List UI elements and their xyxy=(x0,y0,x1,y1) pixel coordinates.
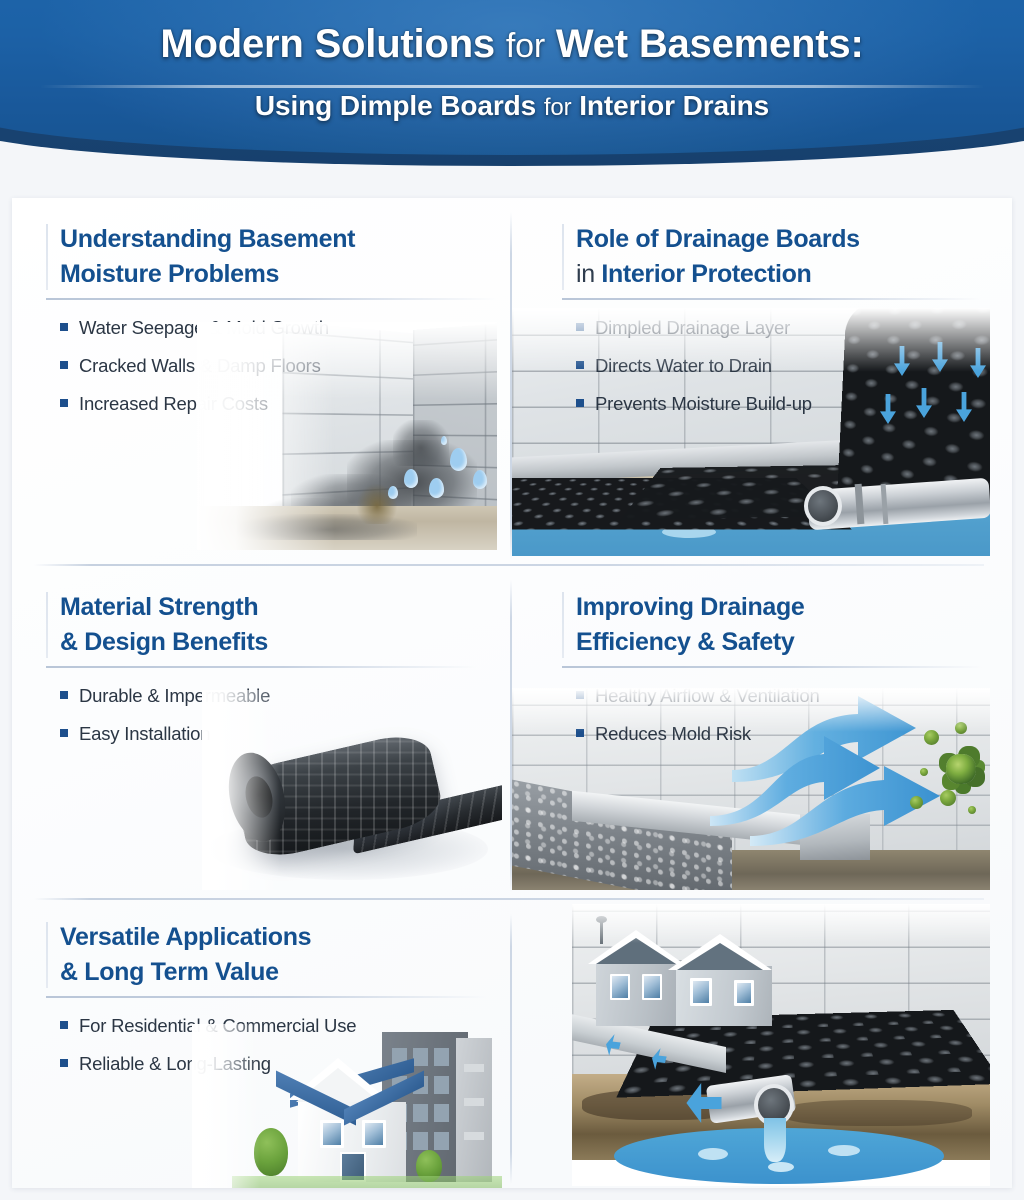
section-bullet-list: Water Seepage & Mold Growth Cracked Wall… xyxy=(46,317,496,416)
list-item: Dimpled Drainage Layer xyxy=(576,317,982,339)
section-understanding-basement-moisture-problems: Understanding Basement Moisture Problems… xyxy=(46,222,496,432)
list-item: Reliable & Long-Lasting xyxy=(60,1053,486,1075)
section-bullet-list: Dimpled Drainage Layer Directs Water to … xyxy=(562,317,982,416)
list-item: Directs Water to Drain xyxy=(576,355,982,377)
mold-spore-icon xyxy=(968,806,976,814)
list-item: Durable & Impermeable xyxy=(60,685,476,707)
page-title-part-1: Modern Solutions xyxy=(160,22,495,66)
page-title: Modern Solutions for Wet Basements: xyxy=(0,22,1024,66)
mold-spore-cluster-icon xyxy=(946,754,976,784)
section-versatile-applications-long-term-value: Versatile Applications & Long Term Value… xyxy=(46,920,486,1091)
section-title-line-2: Interior Protection xyxy=(601,260,811,288)
section-title-block: Role of Drainage Boards in Interior Prot… xyxy=(562,222,982,300)
section-bullet-list: For Residential & Commercial Use Reliabl… xyxy=(46,1015,486,1075)
section-title-block: Material Strength & Design Benefits xyxy=(46,590,476,668)
page-title-connector: for xyxy=(506,27,545,65)
list-item: Easy Installation xyxy=(60,723,476,745)
section-title-line-2: Efficiency & Safety xyxy=(576,628,794,656)
section-title-block: Understanding Basement Moisture Problems xyxy=(46,222,496,300)
section-bullet-list: Durable & Impermeable Easy Installation xyxy=(46,685,476,745)
foundation-dimple-board-drainage-illustration xyxy=(572,904,990,1186)
section-title-line-1: Versatile Applications xyxy=(60,923,311,951)
page-header: Modern Solutions for Wet Basements: Usin… xyxy=(0,0,1024,172)
list-item: Increased Repair Costs xyxy=(60,393,496,415)
section-improving-drainage-efficiency-safety: Improving Drainage Efficiency & Safety H… xyxy=(562,590,982,761)
page-subtitle: Using Dimple Boards for Interior Drains xyxy=(0,90,1024,122)
list-item: Reduces Mold Risk xyxy=(576,723,982,745)
list-item: Prevents Moisture Build-up xyxy=(576,393,982,415)
row-divider-2 xyxy=(34,898,984,900)
list-item: Cracked Walls & Damp Floors xyxy=(60,355,496,377)
section-title-line-1: Understanding Basement xyxy=(60,225,355,253)
row-divider-1 xyxy=(34,564,984,566)
section-title-line-1: Role of Drainage Boards xyxy=(576,225,860,253)
mold-spore-icon xyxy=(920,768,928,776)
page-subtitle-part-2: Interior Drains xyxy=(579,90,769,121)
mold-spore-icon xyxy=(940,790,956,806)
page-subtitle-connector: for xyxy=(544,94,572,121)
section-title-line-2: & Design Benefits xyxy=(60,628,268,656)
list-item: For Residential & Commercial Use xyxy=(60,1015,486,1037)
mold-spore-icon xyxy=(910,796,923,809)
page-title-part-2: Wet Basements: xyxy=(556,22,864,66)
section-title-line-1: Material Strength xyxy=(60,593,258,621)
section-role-of-drainage-boards: Role of Drainage Boards in Interior Prot… xyxy=(562,222,982,432)
list-item: Healthy Airflow & Ventilation xyxy=(576,685,982,707)
section-title-connector: in xyxy=(576,260,595,288)
section-title-line-2: Moisture Problems xyxy=(60,260,279,288)
section-material-strength-design-benefits: Material Strength & Design Benefits Dura… xyxy=(46,590,476,761)
page-subtitle-part-1: Using Dimple Boards xyxy=(255,90,536,121)
column-divider-3 xyxy=(510,914,512,1184)
section-title-block: Improving Drainage Efficiency & Safety xyxy=(562,590,982,668)
section-title-block: Versatile Applications & Long Term Value xyxy=(46,920,486,998)
section-bullet-list: Healthy Airflow & Ventilation Reduces Mo… xyxy=(562,685,982,745)
list-item: Water Seepage & Mold Growth xyxy=(60,317,496,339)
section-title-line-2: & Long Term Value xyxy=(60,958,279,986)
content-sheet: Understanding Basement Moisture Problems… xyxy=(12,198,1012,1188)
section-title-line-1: Improving Drainage xyxy=(576,593,804,621)
